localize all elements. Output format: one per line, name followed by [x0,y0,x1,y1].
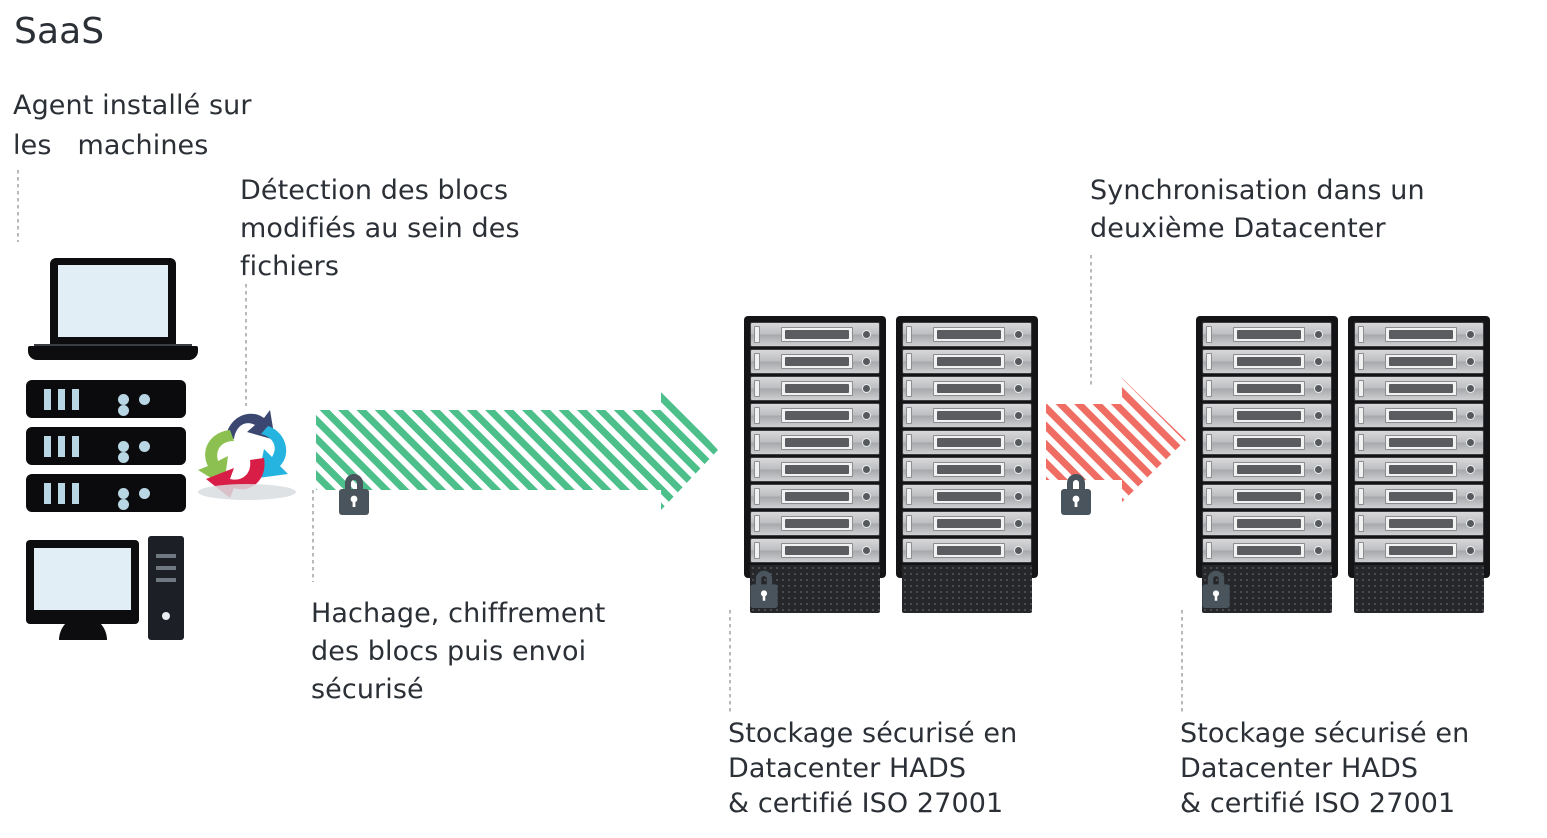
rack-blade [1354,403,1484,428]
server-dots [108,394,170,405]
rack-blade [1202,403,1332,428]
rack-blade [750,403,880,428]
rack-blade [902,376,1032,401]
connector-storage-secondary [1181,610,1183,714]
rack-blade [750,457,880,482]
lock-icon [332,468,376,522]
server-unit [26,380,186,418]
tower-power-dot [162,612,170,620]
label-block-detection: Détection des blocs modifiés au sein des… [240,172,520,286]
rack-blade [902,430,1032,455]
pc-tower [148,536,184,640]
server-rack [744,316,886,578]
server-unit [26,474,186,512]
rack-blade [750,511,880,536]
monitor-screen [34,548,131,610]
rack-blade [902,403,1032,428]
rack-blade [750,484,880,509]
rack-blade [902,538,1032,563]
server-rack [896,316,1038,578]
rack-blade [750,322,880,347]
transfer-arrow-primary [316,388,718,512]
padlock-icon-svg [744,565,784,611]
label-agent-installed: Agent installé sur les machines [13,86,252,166]
rack-blade [750,538,880,563]
server-rack [1196,316,1338,578]
desktop-pc-icon [26,540,196,640]
rack-blade [1202,538,1332,563]
server-unit [26,427,186,465]
rack-ventilation-mesh [902,565,1032,613]
padlock-icon-svg [1054,468,1098,518]
rack-blade [1202,376,1332,401]
rack-blade [1202,430,1332,455]
rack-blade [750,430,880,455]
lock-icon [1054,468,1098,522]
rack-blade [1354,349,1484,374]
label-hashing-encryption: Hachage, chiffrement des blocs puis envo… [311,595,605,709]
client-devices-group [12,258,202,658]
rack-blade [1354,322,1484,347]
laptop-lid [50,258,176,346]
server-bars [44,483,94,504]
rack-blade [1354,430,1484,455]
transfer-arrow-svg [316,388,718,512]
rack-blade [750,349,880,374]
monitor-body [26,540,139,624]
lock-icon [744,565,784,615]
circular-sync-arrows-icon [192,396,302,511]
label-synchronisation: Synchronisation dans un deuxième Datacen… [1090,172,1425,248]
laptop-screen [58,265,168,337]
padlock-icon-svg [1196,565,1236,611]
rack-blade [750,376,880,401]
rack-blade [1202,457,1332,482]
lock-icon [1196,565,1236,615]
rack-blade [1202,484,1332,509]
connector-hashing-to-arrow [312,490,314,582]
rack-blade [1354,376,1484,401]
icon-shadow [198,484,296,500]
rack-blade [1202,511,1332,536]
server-dots [108,441,170,452]
connector-agent-to-devices [17,170,19,242]
rack-blade [1202,349,1332,374]
rack-blade [1354,538,1484,563]
rack-blade [902,457,1032,482]
rack-ventilation-mesh [1354,565,1484,613]
diagram-canvas: SaaS Agent installé sur les machines Dét… [0,0,1547,838]
rack-blade [902,349,1032,374]
server-rack [1348,316,1490,578]
connector-sync-to-arrow [1090,255,1092,385]
rack-blade [902,322,1032,347]
connector-storage-primary [729,610,731,714]
connector-detection-to-sync-icon [245,284,247,406]
server-bars [44,389,94,410]
padlock-icon-svg [332,468,376,518]
rack-blade [902,511,1032,536]
page-title: SaaS [14,10,104,54]
rack-blade [1354,511,1484,536]
rack-blade [1202,322,1332,347]
rack-blade [1354,457,1484,482]
rack-blade [902,484,1032,509]
label-storage-primary: Stockage sécurisé en Datacenter HADS & c… [728,716,1017,821]
label-storage-secondary: Stockage sécurisé en Datacenter HADS & c… [1180,716,1469,821]
rack-blade [1354,484,1484,509]
server-bars [44,436,94,457]
laptop-base [28,346,198,360]
server-dots [108,488,170,499]
